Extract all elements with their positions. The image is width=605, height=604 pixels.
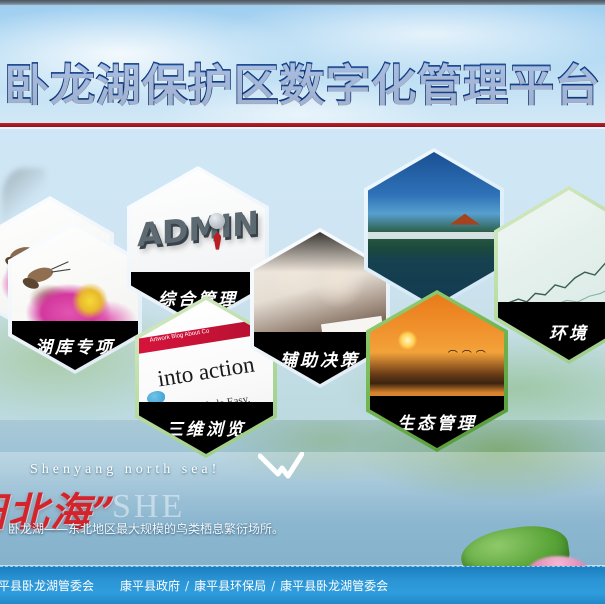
footer-link-government[interactable]: 康平县政府 <box>120 577 180 594</box>
action-navbar-text: Artwork Blog About Co <box>149 328 210 343</box>
hex-tile-environment[interactable]: 环境 <box>494 186 605 364</box>
hex-inner-lake-special: 湖库专项 <box>12 226 138 370</box>
chart-line-graphic <box>507 241 605 309</box>
hex-label-environment: 环境 <box>498 302 605 360</box>
hex-inner-pagoda <box>368 152 500 306</box>
footer-link-list: 康平县政府 / 康平县环保局 / 康平县卧龙湖管委会 <box>120 577 388 594</box>
footer-separator-1: / <box>180 579 194 593</box>
footer-link-epb[interactable]: 康平县环保局 <box>194 577 266 594</box>
footer-link-committee[interactable]: 康平县卧龙湖管委会 <box>280 577 388 594</box>
footer-owner: 康平县卧龙湖管委会 <box>0 577 94 594</box>
admin-graphic-text: ADMIN <box>137 203 259 254</box>
admin-pin-icon <box>209 213 225 229</box>
hex-label-browse-3d: 三维浏览 <box>139 402 273 454</box>
action-headline-text: into action <box>156 352 257 393</box>
pagoda-photo-icon <box>368 152 500 306</box>
hex-inner-ecology: ︵︵︵ 生态管理 <box>370 294 504 448</box>
hex-inner-environment: 环境 <box>498 190 605 360</box>
bridge-railing-graphic <box>368 232 500 239</box>
page-title: 卧龙湖保护区数字化管理平台 <box>4 49 601 113</box>
footer-separator-2: / <box>266 579 280 593</box>
top-border-bar <box>0 0 605 5</box>
page-title-band: 卧龙湖保护区数字化管理平台 <box>0 46 605 116</box>
footer-content: 康平县卧龙湖管委会 康平县政府 / 康平县环保局 / 康平县卧龙湖管委会 <box>0 577 388 594</box>
hex-label-ecology: 生态管理 <box>370 396 504 448</box>
hex-label-lake-special: 湖库专项 <box>12 321 138 370</box>
site-footer: 康平县卧龙湖管委会 康平县政府 / 康平县环保局 / 康平县卧龙湖管委会 <box>0 566 605 604</box>
flying-birds-icon: ︵︵︵ <box>448 340 492 352</box>
pagoda-roof-graphic <box>450 214 480 225</box>
page-stage: 卧龙湖保护区数字化管理平台 卧龙湖保护区数字化管理平台 SHE Shenyang… <box>0 0 605 604</box>
red-divider-highlight <box>0 127 605 129</box>
